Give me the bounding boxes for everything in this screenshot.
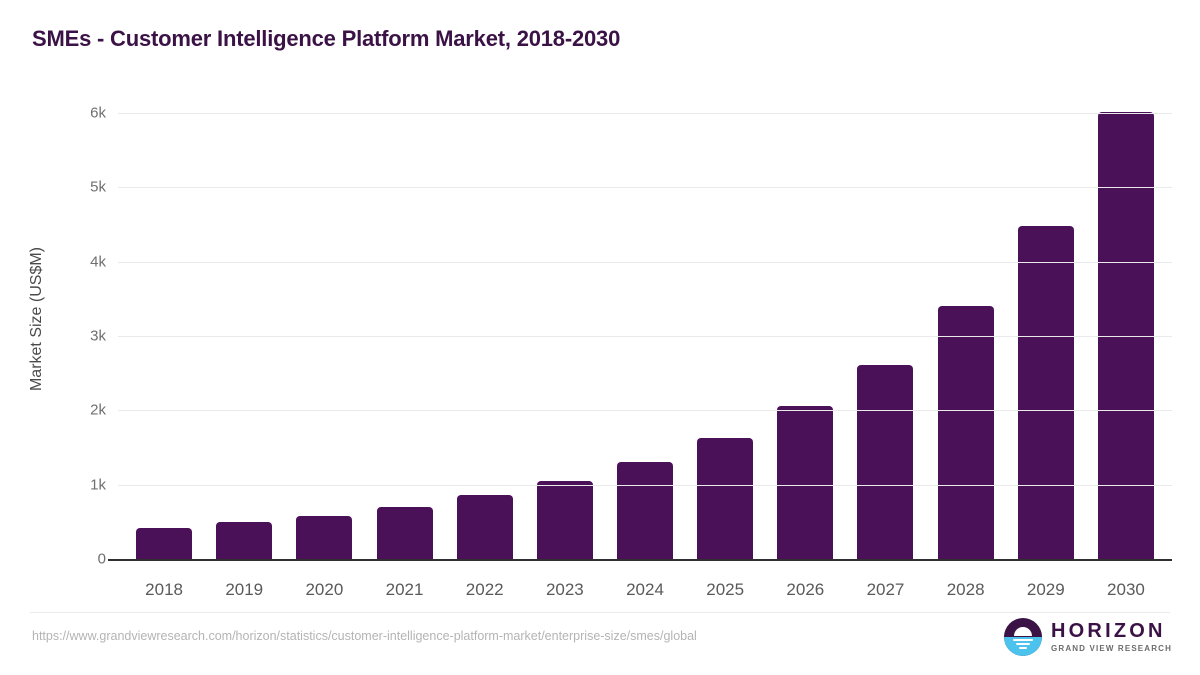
horizon-sun-icon (1004, 618, 1042, 656)
gridline (118, 410, 1172, 411)
x-tick-slot: 2028 (926, 580, 1006, 600)
bar-slot (765, 95, 845, 559)
chart-canvas: SMEs - Customer Intelligence Platform Ma… (0, 0, 1200, 675)
x-axis-line (108, 559, 1172, 561)
bar[interactable] (938, 306, 994, 559)
bar-slot (124, 95, 204, 559)
bar[interactable] (697, 438, 753, 559)
bar-slot (525, 95, 605, 559)
horizon-logo[interactable]: HORIZON GRAND VIEW RESEARCH (1004, 618, 1172, 656)
x-tick-slot: 2030 (1086, 580, 1166, 600)
bar[interactable] (537, 481, 593, 559)
bar[interactable] (1018, 226, 1074, 559)
bar-slot (845, 95, 925, 559)
bar-slot (605, 95, 685, 559)
bar-slot (685, 95, 765, 559)
bar[interactable] (296, 516, 352, 559)
x-tick-label: 2021 (386, 580, 424, 599)
y-tick-label: 3k (90, 328, 106, 345)
x-tick-slot: 2020 (284, 580, 364, 600)
bar[interactable] (136, 528, 192, 559)
bar-slot (204, 95, 284, 559)
y-tick-label: 0 (98, 551, 106, 568)
x-tick-label: 2023 (546, 580, 584, 599)
x-tick-slot: 2029 (1006, 580, 1086, 600)
bar[interactable] (777, 406, 833, 559)
x-tick-slot: 2025 (685, 580, 765, 600)
x-tick-slot: 2024 (605, 580, 685, 600)
x-tick-slot: 2026 (765, 580, 845, 600)
bar-slot (364, 95, 444, 559)
x-tick-slot: 2018 (124, 580, 204, 600)
y-tick-label: 2k (90, 402, 106, 419)
x-tick-label: 2024 (626, 580, 664, 599)
logo-subtitle: GRAND VIEW RESEARCH (1051, 645, 1172, 653)
x-tick-label: 2022 (466, 580, 504, 599)
bar[interactable] (457, 495, 513, 559)
x-tick-slot: 2023 (525, 580, 605, 600)
bar-slot (1006, 95, 1086, 559)
x-tick-slot: 2021 (364, 580, 444, 600)
x-axis-tick-labels: 2018201920202021202220232024202520262027… (118, 580, 1172, 600)
x-tick-label: 2018 (145, 580, 183, 599)
x-tick-label: 2029 (1027, 580, 1065, 599)
x-tick-label: 2020 (305, 580, 343, 599)
bar[interactable] (857, 365, 913, 559)
y-tick-label: 5k (90, 179, 106, 196)
bar-slot (926, 95, 1006, 559)
footer-divider (30, 612, 1170, 613)
plot-area: Market Size (US$M) 01k2k3k4k5k6k (0, 95, 1200, 575)
bar[interactable] (377, 507, 433, 559)
y-axis-tick-labels: 01k2k3k4k5k6k (60, 95, 106, 575)
gridline (118, 485, 1172, 486)
x-tick-label: 2028 (947, 580, 985, 599)
x-tick-slot: 2019 (204, 580, 284, 600)
logo-name: HORIZON (1051, 621, 1172, 641)
y-tick-label: 1k (90, 476, 106, 493)
bar-slot (445, 95, 525, 559)
x-tick-label: 2030 (1107, 580, 1145, 599)
source-url[interactable]: https://www.grandviewresearch.com/horizo… (32, 629, 697, 643)
gridline (118, 187, 1172, 188)
bar-slot (284, 95, 364, 559)
logo-text: HORIZON GRAND VIEW RESEARCH (1051, 621, 1172, 653)
bar[interactable] (617, 462, 673, 559)
page-title: SMEs - Customer Intelligence Platform Ma… (32, 26, 620, 52)
x-tick-label: 2027 (867, 580, 905, 599)
grid-area (118, 95, 1172, 575)
y-axis-title: Market Size (US$M) (28, 109, 46, 529)
gridline (118, 262, 1172, 263)
y-tick-label: 6k (90, 105, 106, 122)
x-tick-label: 2026 (786, 580, 824, 599)
x-tick-label: 2025 (706, 580, 744, 599)
x-tick-slot: 2027 (845, 580, 925, 600)
y-tick-label: 4k (90, 253, 106, 270)
gridline (118, 113, 1172, 114)
bar-slot (1086, 95, 1166, 559)
x-tick-label: 2019 (225, 580, 263, 599)
bar[interactable] (216, 522, 272, 559)
bar-series (118, 95, 1172, 559)
x-tick-slot: 2022 (445, 580, 525, 600)
gridline (118, 336, 1172, 337)
